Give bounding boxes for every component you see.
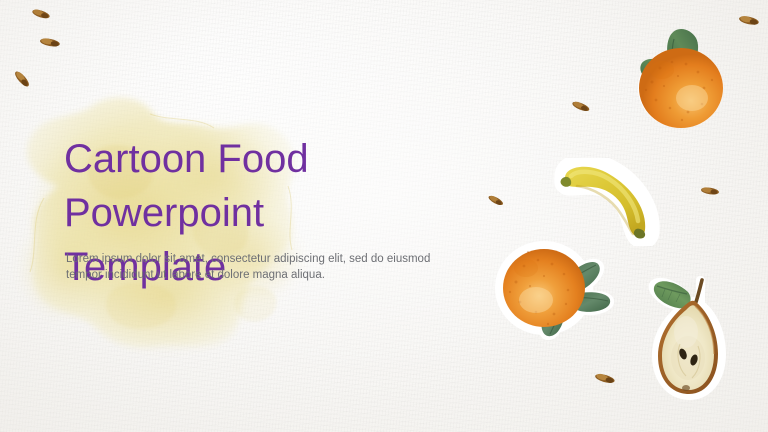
seed-icon	[699, 183, 721, 199]
seed-icon	[10, 68, 34, 90]
seed-icon	[570, 98, 592, 115]
seed-icon	[593, 370, 617, 387]
orange-with-leaves-top-sticker	[612, 20, 744, 146]
seed-icon	[38, 34, 62, 51]
slide-subtitle: Lorem ipsum dolor sit amet, consectetur …	[66, 251, 458, 283]
seed-icon	[30, 6, 52, 22]
orange-with-leaves-bottom-sticker	[492, 232, 632, 358]
pear-half-sticker	[634, 272, 754, 408]
slide-canvas: Cartoon Food Powerpoint Template Lorem i…	[0, 0, 768, 432]
